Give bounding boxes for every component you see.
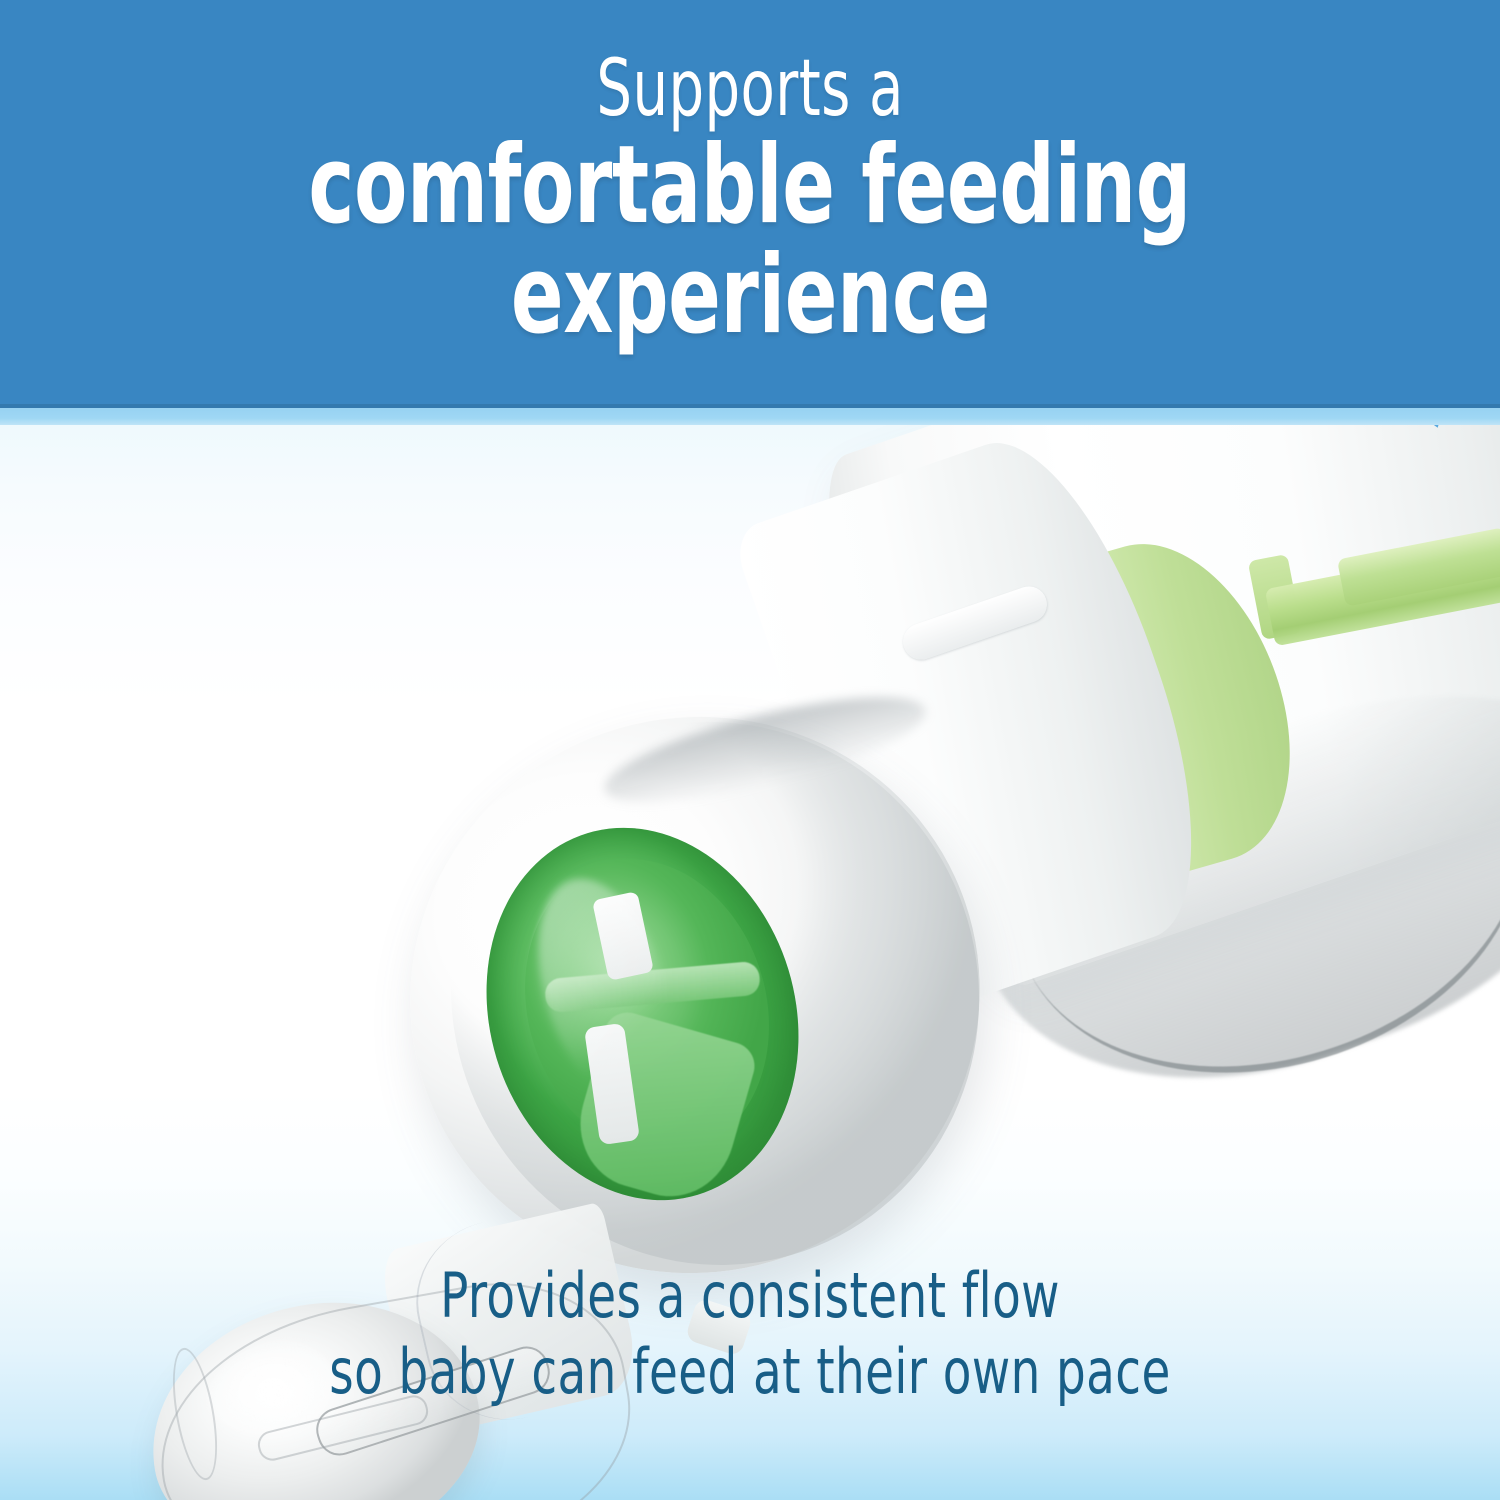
header-banner: Supports a comfortable feeding experienc… — [0, 0, 1500, 408]
marketing-image-canvas: Supports a comfortable feeding experienc… — [0, 0, 1500, 1500]
caption-line-1: Provides a consistent flow — [120, 1258, 1380, 1334]
headline-line-3: experience — [510, 241, 989, 351]
bottom-caption: Provides a consistent flow so baby can f… — [120, 1258, 1380, 1409]
light-blue-divider-strip — [0, 408, 1500, 425]
caption-line-2: so baby can feed at their own pace — [120, 1334, 1380, 1410]
headline-line-2: comfortable feeding — [309, 131, 1192, 241]
headline-line-1: Supports a — [596, 51, 903, 127]
